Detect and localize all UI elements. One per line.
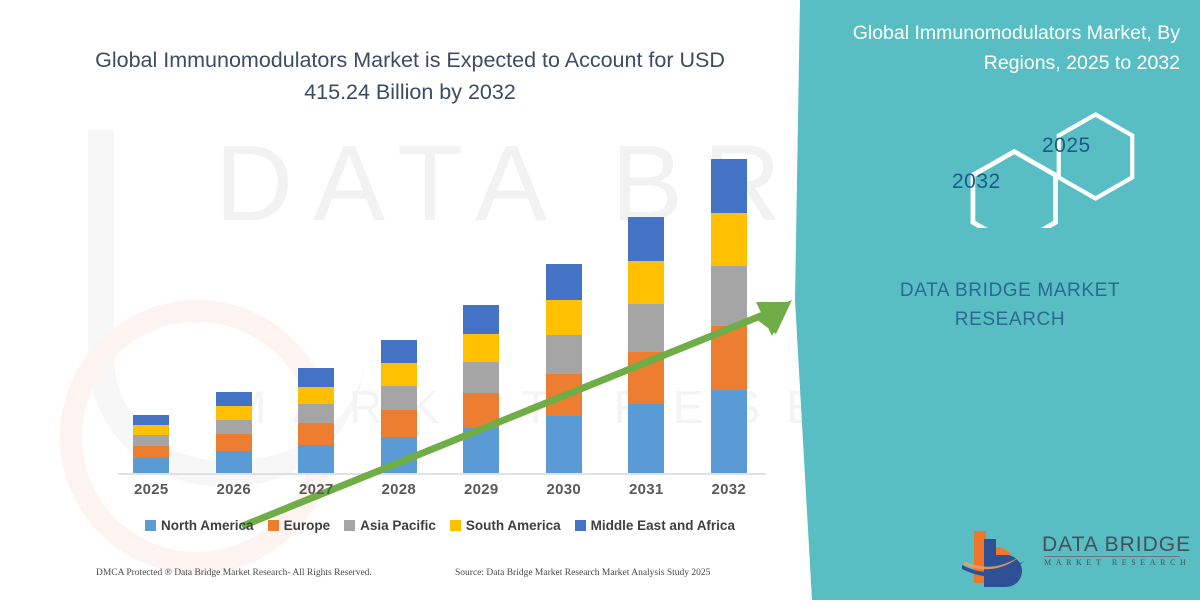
bar-segment [133,415,169,425]
copyright-notice: DMCA Protected ® Data Bridge Market Rese… [96,568,372,578]
stacked-bar-chart: 20252026202720282029203020312032 [110,140,770,475]
bar-segment [133,446,169,458]
legend-swatch [145,520,156,531]
source-note: Source: Data Bridge Market Research Mark… [455,568,710,578]
chart-legend: North AmericaEuropeAsia PacificSouth Ame… [110,518,770,533]
legend-swatch [344,520,355,531]
logo-tagline: MARKET RESEARCH [1044,558,1190,567]
databridge-mark-icon [960,525,1040,587]
legend-label: North America [161,518,254,533]
legend-label: Europe [284,518,331,533]
legend-item-europe[interactable]: Europe [268,518,331,533]
legend-item-south-america[interactable]: South America [450,518,561,533]
x-axis-label-2031: 2031 [605,481,688,505]
stacked-bar [133,415,169,473]
bar-segment [133,425,169,435]
hexagon-group: 2032 2025 [920,108,1150,228]
company-logo: DATA BRIDGE MARKET RESEARCH [960,525,1190,587]
legend-swatch [268,520,279,531]
legend-label: Asia Pacific [360,518,436,533]
legend-item-north-america[interactable]: North America [145,518,254,533]
x-axis-label-2025: 2025 [110,481,193,505]
bar-segment [628,217,664,262]
logo-wordmark: DATA BRIDGE [1042,533,1191,557]
legend-label: Middle East and Africa [591,518,735,533]
page-title: Global Immunomodulators Market is Expect… [90,44,730,108]
bar-segment [133,458,169,473]
logo-divider [1044,556,1180,557]
x-axis-label-2026: 2026 [193,481,276,505]
x-axis-label-2030: 2030 [523,481,606,505]
hexagon-outline-icon [920,108,1150,228]
legend-swatch [575,520,586,531]
legend-item-middle-east-and-africa[interactable]: Middle East and Africa [575,518,735,533]
legend-swatch [450,520,461,531]
brand-name: DATA BRIDGE MARKET RESEARCH [860,276,1160,334]
bar-segment [133,435,169,445]
bar-column-2025 [110,157,193,473]
infographic-canvas: DATA BRIDGE MARKET RESEARCH Global Immun… [0,0,1200,600]
panel-title: Global Immunomodulators Market, By Regio… [830,18,1180,78]
right-panel: Global Immunomodulators Market, By Regio… [740,0,1200,600]
x-axis-label-2027: 2027 [275,481,358,505]
legend-label: South America [466,518,561,533]
legend-item-asia-pacific[interactable]: Asia Pacific [344,518,436,533]
footer: DMCA Protected ® Data Bridge Market Rese… [0,568,790,588]
hexagon-label-2032: 2032 [952,170,1001,194]
x-axis-label-2029: 2029 [440,481,523,505]
x-axis-labels: 20252026202720282029203020312032 [110,481,770,505]
hexagon-label-2025: 2025 [1042,134,1091,158]
x-axis-label-2028: 2028 [358,481,441,505]
